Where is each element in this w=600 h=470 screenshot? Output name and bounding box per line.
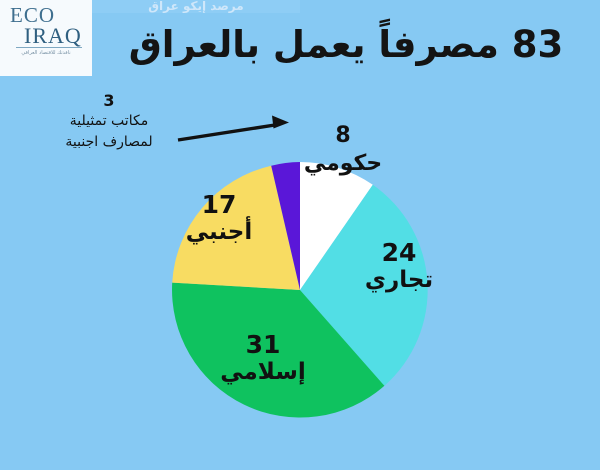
infographic-canvas: مرصد إيكو عراق ECO IRAQ نافذتك للاقتصاد … xyxy=(0,0,600,470)
pie-label-islamic-name: إسلامي xyxy=(188,358,338,387)
pie-label-foreign-name: أجنبي xyxy=(158,218,280,247)
pie-label-commercial: 24 تجاري xyxy=(346,239,452,295)
pie-label-foreign-value: 17 xyxy=(158,191,280,218)
pie-chart xyxy=(0,0,600,470)
pie-label-foreign: 17 أجنبي xyxy=(158,191,280,247)
pie-label-government-name: حكومي xyxy=(300,149,386,178)
pie-label-islamic: 31 إسلامي xyxy=(188,331,338,387)
pie-label-commercial-name: تجاري xyxy=(346,266,452,295)
callout-arrow xyxy=(178,116,289,141)
pie-label-commercial-value: 24 xyxy=(346,239,452,266)
pie-label-government-value: 8 xyxy=(300,122,386,149)
pie-label-islamic-value: 31 xyxy=(188,331,338,358)
pie-label-government: 8 حكومي xyxy=(300,122,386,178)
